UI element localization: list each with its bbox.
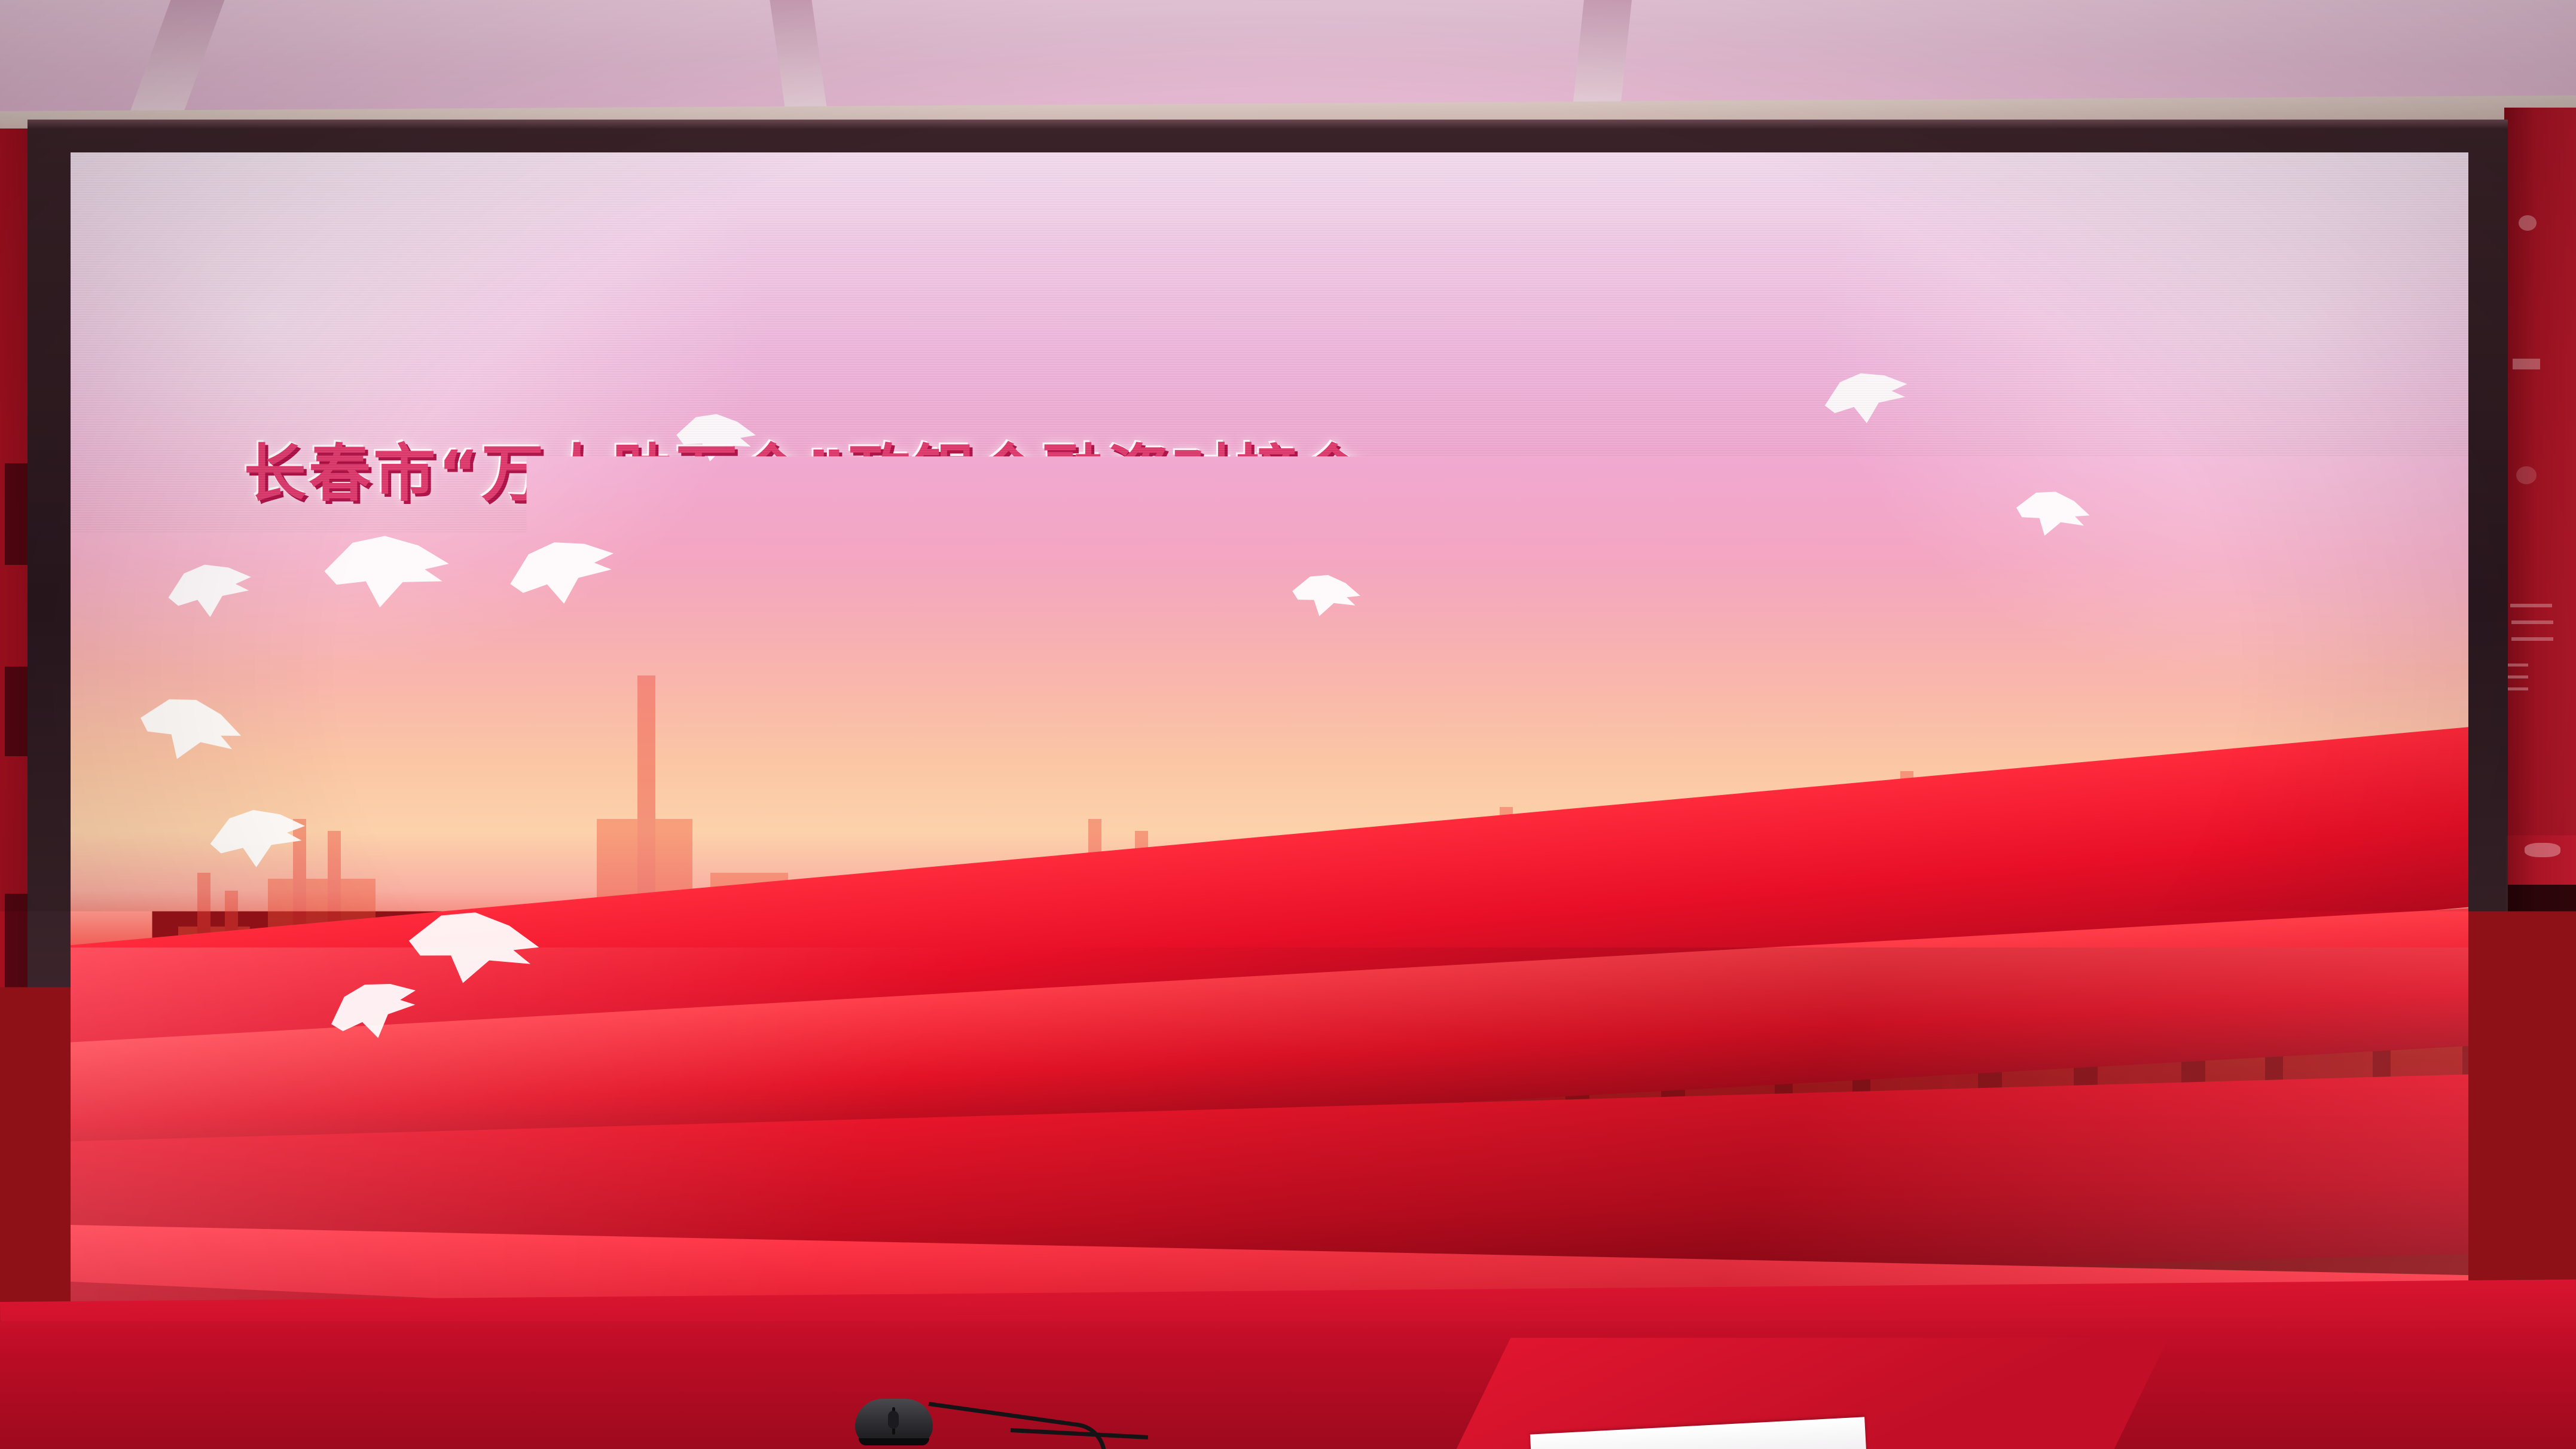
- backdrop-subtitle: 长春市“万人助万企”政银企融资对接会: [244, 423, 1366, 513]
- laptop[interactable]: Lenovo: [1000, 1112, 1490, 1449]
- conference-room-scene: 长春市“万人助万企”政银企融资对接会 金融服务走进宽城区 主办单位： “万人助万…: [0, 0, 2576, 1449]
- lenovo-logo: Lenovo: [1031, 1158, 1177, 1202]
- backdrop-main-title: 金融服务走进宽城区: [573, 535, 1936, 748]
- host-organization-line: 主办单位： “万人助万企”企业融资与资本运营功能组: [549, 761, 1817, 836]
- mouse-scroll-wheel[interactable]: [888, 1411, 899, 1429]
- nose: [1227, 1062, 1253, 1106]
- computer-mouse[interactable]: [855, 1399, 933, 1445]
- right-side-wall: [2504, 108, 2576, 1449]
